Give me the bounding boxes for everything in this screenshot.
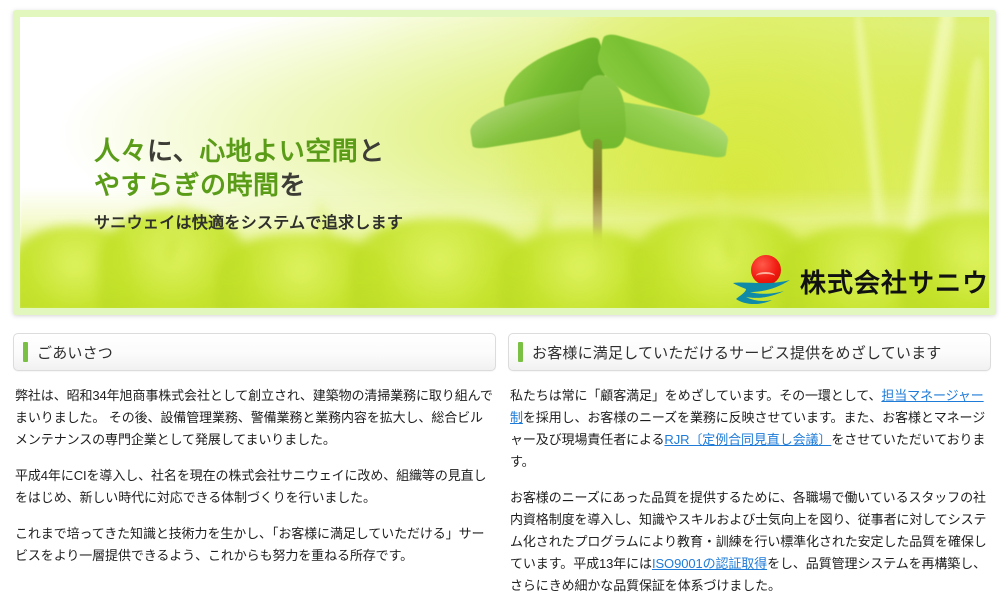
headline-segment: を <box>280 171 307 200</box>
left-column: ごあいさつ 弊社は、昭和34年旭商事株式会社として創立され、建築物の清掃業務に取… <box>13 333 496 597</box>
left-section-title: ごあいさつ <box>37 342 113 363</box>
paragraph: 平成4年にCIを導入し、社名を現在の株式会社サニウェイに改め、組織等の見直しをは… <box>15 465 494 509</box>
right-section-title: お客様に満足していただけるサービス提供をめざしています <box>532 342 942 363</box>
hero-subline: サニウェイは快適をシステムで追求します <box>94 209 403 233</box>
headline-segment: と <box>358 137 385 166</box>
link-rjr-meeting[interactable]: RJR〔定例合同見直し会議〕 <box>664 432 831 447</box>
hero-headline-line1: 人々に、心地よい空間と <box>94 135 403 169</box>
text-run: 私たちは常に「顧客満足」をめざしています。その一環として、 <box>510 388 881 403</box>
left-section-header: ごあいさつ <box>13 333 496 371</box>
accent-bar-icon <box>23 342 28 362</box>
logo-mark-icon <box>732 253 794 308</box>
paragraph: これまで培ってきた知識と技術力を生かし、「お客様に満足していただける」サービスを… <box>15 523 494 567</box>
left-body: 弊社は、昭和34年旭商事株式会社として創立され、建築物の清掃業務に取り組んでまい… <box>13 385 496 567</box>
headline-segment: 人々 <box>94 137 147 166</box>
headline-segment: 心地よい空間 <box>199 137 358 166</box>
hero-headline-line2: やすらぎの時間を <box>94 169 403 203</box>
right-section-header: お客様に満足していただけるサービス提供をめざしています <box>508 333 991 371</box>
paragraph: 私たちは常に「顧客満足」をめざしています。その一環として、担当マネージャー制を採… <box>510 385 989 473</box>
headline-segment: やすらぎの時間 <box>94 171 280 200</box>
company-logo: 株式会社サニウェイ <box>732 253 989 308</box>
hero-copy: 人々に、心地よい空間と やすらぎの時間を サニウェイは快適をシステムで追求します <box>94 135 403 233</box>
paragraph: お客様のニーズにあった品質を提供するために、各職場で働いているスタッフの社内資格… <box>510 487 989 597</box>
headline-segment: に、 <box>147 137 199 166</box>
logo-company-name: 株式会社サニウェイ <box>800 263 989 300</box>
wave-icon <box>732 279 794 307</box>
hero-banner: 人々に、心地よい空間と やすらぎの時間を サニウェイは快適をシステムで追求します… <box>13 10 996 315</box>
content-columns: ごあいさつ 弊社は、昭和34年旭商事株式会社として創立され、建築物の清掃業務に取… <box>13 333 996 597</box>
paragraph: 弊社は、昭和34年旭商事株式会社として創立され、建築物の清掃業務に取り組んでまい… <box>15 385 494 451</box>
right-body: 私たちは常に「顧客満足」をめざしています。その一環として、担当マネージャー制を採… <box>508 385 991 597</box>
right-column: お客様に満足していただけるサービス提供をめざしています 私たちは常に「顧客満足」… <box>508 333 991 597</box>
accent-bar-icon <box>518 342 523 362</box>
hero-background: 人々に、心地よい空間と やすらぎの時間を サニウェイは快適をシステムで追求します… <box>20 17 989 308</box>
link-iso9001[interactable]: ISO9001の認証取得 <box>652 556 767 571</box>
